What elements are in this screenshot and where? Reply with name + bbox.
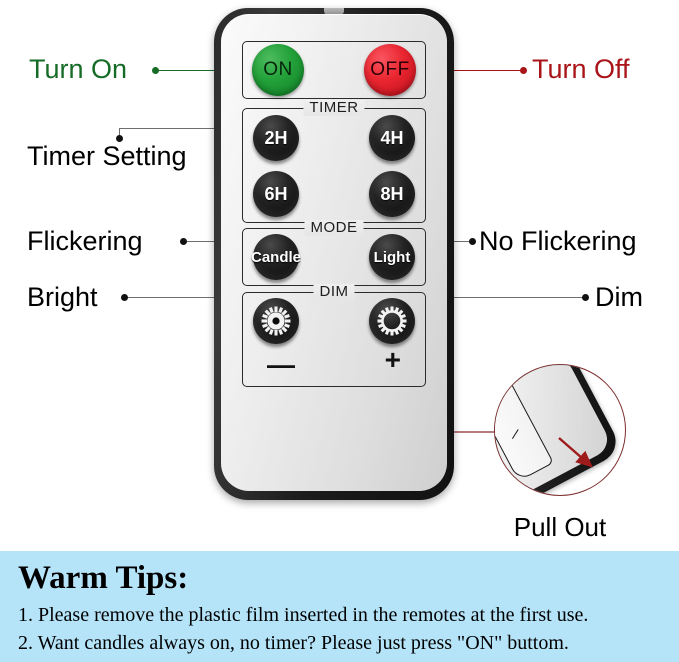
sun-hollow-icon [375, 304, 409, 338]
timer-6h-button[interactable]: 6H [253, 171, 299, 217]
power-off-button[interactable]: OFF [364, 44, 416, 96]
warm-tips-line-1: 1. Please remove the plastic film insert… [18, 603, 588, 627]
dim-button-group: DIM [242, 292, 426, 387]
dim-decrease-sign: — [267, 351, 295, 379]
pull-out-detail-inset: × [494, 364, 626, 496]
remote-control-faceplate: ON OFF TIMER 2H 4H 6H 8H MODE Candle Lig… [221, 14, 447, 491]
timer-4h-button[interactable]: 4H [369, 115, 415, 161]
leader-dot-flickering [180, 238, 187, 245]
timer-button-group: TIMER 2H 4H 6H 8H [242, 108, 426, 223]
power-on-button[interactable]: ON [252, 44, 304, 96]
timer-group-legend: TIMER [303, 100, 364, 116]
callout-flickering: Flickering [27, 226, 143, 256]
dim-increase-sign: + [385, 346, 401, 374]
pull-out-arrow-icon [495, 365, 626, 496]
warm-tips-title: Warm Tips: [18, 560, 188, 596]
leader-dot-no-flickering [469, 238, 476, 245]
callout-turn-off: Turn Off [532, 54, 630, 84]
leader-dot-turn-off [520, 67, 527, 74]
mode-candle-button[interactable]: Candle [253, 234, 299, 280]
leader-dot-turn-on [152, 67, 159, 74]
warm-tips-banner: Warm Tips: 1. Please remove the plastic … [0, 551, 679, 662]
power-button-group: ON OFF [242, 41, 426, 99]
leader-dot-dim [582, 294, 589, 301]
timer-2h-button[interactable]: 2H [253, 115, 299, 161]
warm-tips-line-2: 2. Want candles always on, no timer? Ple… [18, 631, 569, 655]
callout-no-flickering: No Flickering [479, 226, 637, 256]
callout-timer-setting: Timer Setting [27, 141, 187, 171]
product-instruction-image: ON OFF TIMER 2H 4H 6H 8H MODE Candle Lig… [0, 0, 679, 662]
sun-filled-icon [259, 304, 293, 338]
dim-dim-button[interactable] [369, 298, 415, 344]
callout-dim: Dim [595, 282, 643, 312]
pull-out-label: Pull Out [494, 512, 626, 543]
callout-turn-on: Turn On [29, 54, 127, 84]
dim-group-legend: DIM [314, 284, 355, 300]
mode-light-button[interactable]: Light [369, 234, 415, 280]
remote-control-body: ON OFF TIMER 2H 4H 6H 8H MODE Candle Lig… [214, 8, 454, 500]
mode-button-group: MODE Candle Light [242, 228, 426, 286]
leader-dot-bright [121, 294, 128, 301]
mode-group-legend: MODE [305, 220, 364, 236]
dim-bright-button[interactable] [253, 298, 299, 344]
callout-bright: Bright [27, 282, 98, 312]
timer-8h-button[interactable]: 8H [369, 171, 415, 217]
